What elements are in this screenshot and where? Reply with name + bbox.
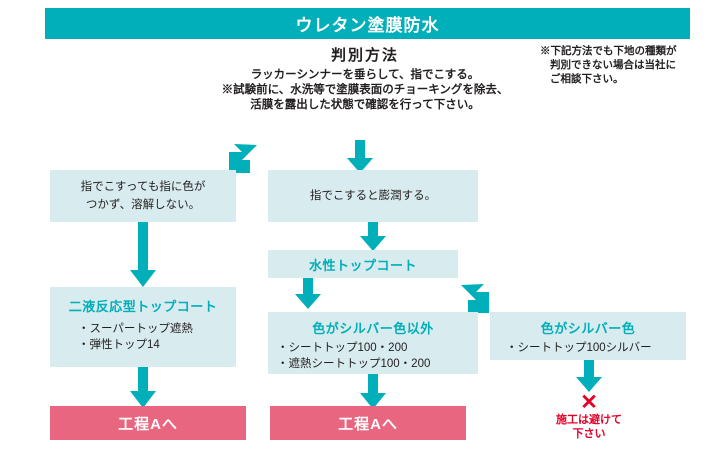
result-warning-line-1: 施工は避けて xyxy=(529,413,649,427)
arrow-down-to-middle-question xyxy=(346,140,374,174)
result-middle-process-a: 工程Aへ xyxy=(270,406,466,440)
node-silver-color: 色がシルバー色 ・シートトップ100シルバー xyxy=(490,312,686,360)
intro-block: 判別方法 ラッカーシンナーを垂らして、指でこする。 ※試験前に、水洗等で塗膜表面… xyxy=(195,44,535,113)
node-water-based-topcoat-title: 水性トップコート xyxy=(309,255,417,274)
result-warning-line-2: 下さい xyxy=(529,427,649,441)
intro-line-2: ※試験前に、水洗等で塗膜表面のチョーキングを除去、 xyxy=(195,83,535,98)
corner-note-line-3: ご相談下さい。 xyxy=(540,72,700,86)
node-non-silver-color: 色がシルバー色以外 ・シートトップ100・200 ・遮熱シートトップ100・20… xyxy=(268,312,478,374)
header-bar: ウレタン塗膜防水 xyxy=(45,8,690,39)
node-non-silver-color-item-2: ・遮熱シートトップ100・200 xyxy=(277,356,478,372)
node-silver-color-item-1: ・シートトップ100シルバー xyxy=(506,340,686,356)
result-left-process-a: 工程Aへ xyxy=(50,406,246,440)
corner-note-line-2: 判別できない場合は当社に xyxy=(540,58,700,72)
node-water-based-topcoat: 水性トップコート xyxy=(268,250,458,278)
node-two-part-topcoat-item-2: ・弾性トップ14 xyxy=(78,337,236,353)
node-non-silver-color-item-1: ・シートトップ100・200 xyxy=(277,340,478,356)
arrow-down-to-non-silver xyxy=(294,278,322,310)
arrow-down-to-left-result xyxy=(129,367,157,409)
corner-note: ※下記方法でも下地の種類が 判別できない場合は当社に ご相談下さい。 xyxy=(540,44,700,86)
flowchart-canvas: ウレタン塗膜防水 判別方法 ラッカーシンナーを垂らして、指でこする。 ※試験前に… xyxy=(0,0,720,460)
middle-question-box: 指でこすると膨潤する。 xyxy=(268,170,478,222)
cross-mark-icon: ✕ xyxy=(529,393,649,413)
node-non-silver-color-title: 色がシルバー色以外 xyxy=(312,318,434,337)
corner-note-line-1: ※下記方法でも下地の種類が xyxy=(540,45,677,57)
arrow-down-to-middle-result xyxy=(359,374,387,410)
arrow-down-to-water-based xyxy=(359,222,387,252)
arrow-down-to-warning xyxy=(575,360,603,393)
left-question-line-1: 指でこすっても指に色が xyxy=(81,178,206,196)
page-title: ウレタン塗膜防水 xyxy=(296,11,440,36)
node-two-part-topcoat-title: 二液反応型トップコート xyxy=(69,296,218,315)
node-two-part-topcoat: 二液反応型トップコート ・スーパートップ遮熱 ・弾性トップ14 xyxy=(50,287,236,367)
intro-line-1: ラッカーシンナーを垂らして、指でこする。 xyxy=(195,68,535,83)
intro-heading: 判別方法 xyxy=(195,44,535,65)
node-silver-color-title: 色がシルバー色 xyxy=(541,318,636,337)
intro-line-3: 活膜を露出した状態で確認を行って下さい。 xyxy=(195,98,535,113)
middle-question-line-1: 指でこすると膨潤する。 xyxy=(310,187,436,205)
result-middle-process-a-label: 工程Aへ xyxy=(338,413,398,434)
arrow-down-to-two-part-coat xyxy=(129,222,157,288)
result-left-process-a-label: 工程Aへ xyxy=(118,413,178,434)
result-warning: ✕ 施工は避けて 下さい xyxy=(529,393,649,441)
left-question-line-2: つかず、溶解しない。 xyxy=(86,196,200,214)
node-two-part-topcoat-item-1: ・スーパートップ遮熱 xyxy=(78,321,236,337)
left-question-box: 指でこすっても指に色が つかず、溶解しない。 xyxy=(50,170,236,222)
